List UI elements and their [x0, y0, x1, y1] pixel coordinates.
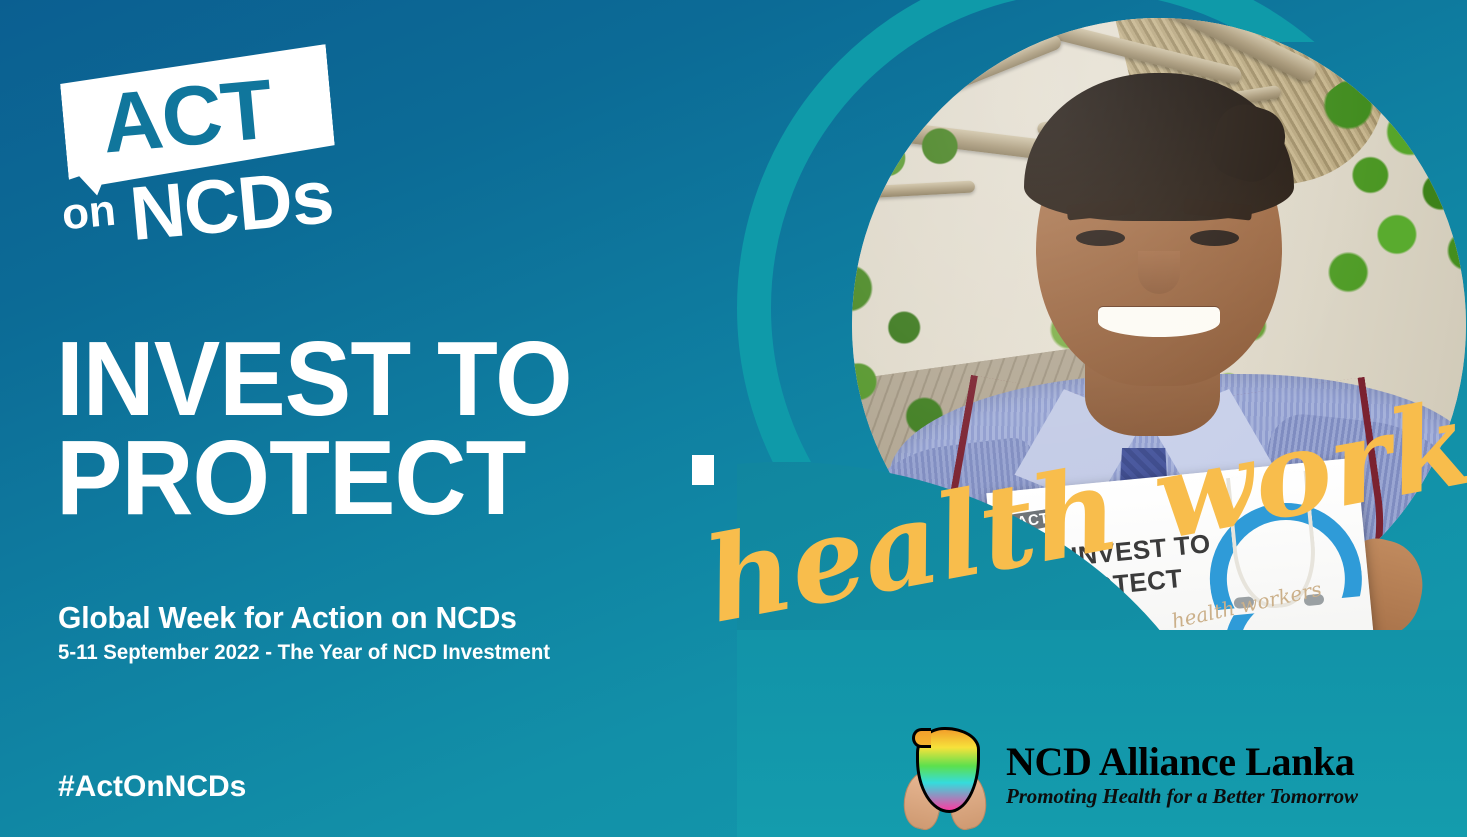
event-dates: 5-11 September 2022 - The Year of NCD In… [58, 641, 550, 665]
act-on-ncds-logo: ACT on NCDs [56, 56, 346, 286]
event-title: Global Week for Action on NCDs [58, 600, 517, 636]
headline-line2: PROTECT [56, 429, 572, 528]
poster-canvas: ACT onNCDs INVEST TO PROTECT health work… [0, 0, 1467, 837]
headline-letter-fragment [692, 455, 714, 485]
island-in-hands-icon [896, 719, 992, 831]
logo-on-word: on [60, 186, 118, 241]
headline-line1: INVEST TO [56, 330, 572, 429]
logo-ncds-word: NCDs [126, 153, 336, 258]
organisation-tagline: Promoting Health for a Better Tomorrow [1006, 784, 1358, 809]
logo-act-word: ACT [99, 66, 276, 165]
ncd-alliance-lanka-logo: NCD Alliance Lanka Promoting Health for … [896, 716, 1396, 834]
poster-headline: INVEST TO PROTECT [56, 330, 572, 527]
campaign-hashtag: #ActOnNCDs [58, 770, 246, 804]
organisation-name: NCD Alliance Lanka [1006, 742, 1358, 782]
